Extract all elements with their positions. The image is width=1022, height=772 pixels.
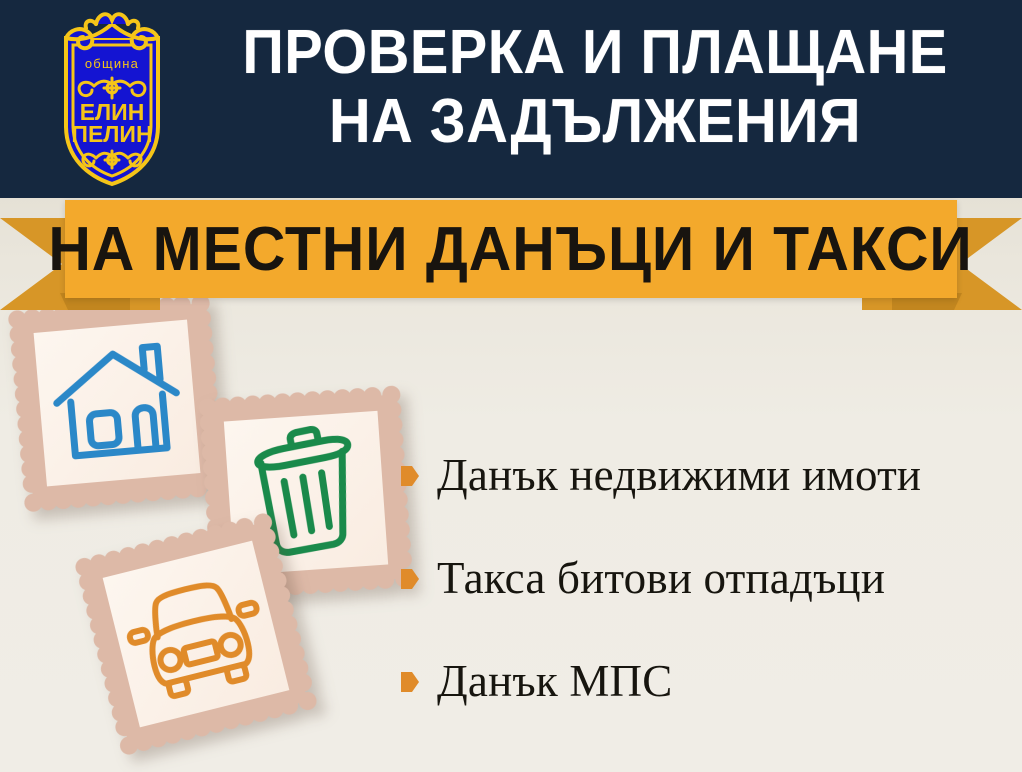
arrow-bullet-icon (400, 463, 420, 489)
list-item-label: Данък МПС (437, 659, 672, 704)
house-stamp (8, 294, 227, 513)
list-item[interactable]: Такса битови отпадъци (400, 527, 1010, 630)
list-item-label: Такса битови отпадъци (437, 556, 885, 601)
ribbon-panel: НА МЕСТНИ ДАНЪЦИ И ТАКСИ (65, 200, 957, 298)
list-item-label: Данък недвижими имоти (437, 453, 921, 498)
page-title: ПРОВЕРКА И ПЛАЩАНЕ НА ЗАДЪЛЖЕНИЯ (214, 18, 977, 157)
list-item[interactable]: Данък недвижими имоти (400, 424, 1010, 527)
arrow-bullet-icon (400, 566, 420, 592)
logo-community-label: община (85, 56, 139, 71)
ribbon-banner: НА МЕСТНИ ДАНЪЦИ И ТАКСИ (0, 196, 1022, 312)
page-title-line2: НА ЗАДЪЛЖЕНИЯ (214, 87, 977, 156)
logo-name-line2: ПЕЛИН (71, 121, 152, 147)
poster-canvas: ПРОВЕРКА И ПЛАЩАНЕ НА ЗАДЪЛЖЕНИЯ община (0, 0, 1022, 772)
list-item[interactable]: Данък МПС (400, 630, 1010, 733)
ribbon-text: НА МЕСТНИ ДАНЪЦИ И ТАКСИ (49, 214, 973, 285)
page-title-line1: ПРОВЕРКА И ПЛАЩАНЕ (242, 18, 947, 87)
arrow-bullet-icon (400, 669, 420, 695)
tax-types-list: Данък недвижими имоти Такса битови отпад… (400, 424, 1010, 733)
municipality-logo: община ЕЛИН ПЕЛИН (36, 8, 188, 190)
